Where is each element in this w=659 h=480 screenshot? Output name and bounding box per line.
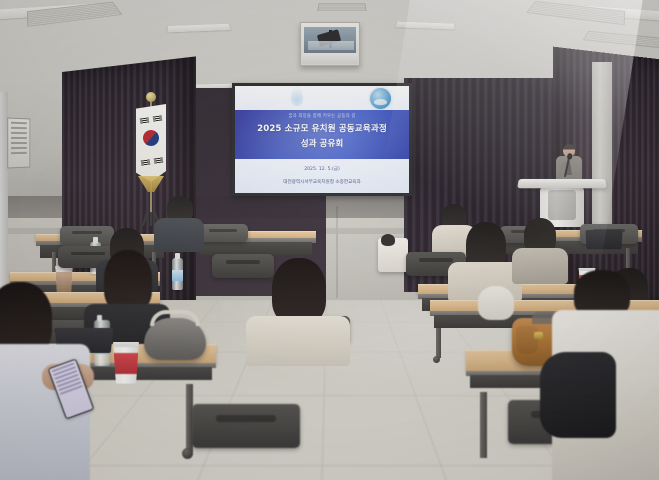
projector-reflection xyxy=(308,41,354,50)
taeguk-circle-icon xyxy=(141,128,161,148)
podium-shadow-panel xyxy=(548,190,576,220)
attendee-torso xyxy=(246,316,350,366)
attendee-mid-right xyxy=(470,286,528,362)
attendee-hair xyxy=(104,250,152,312)
water-drop-graphic xyxy=(291,86,303,106)
organization-logo-icon xyxy=(370,88,391,109)
slide-title-line-2: 성과 공유회 xyxy=(235,137,409,149)
attendee-row-2-b xyxy=(246,258,350,360)
water-bottle xyxy=(172,258,183,290)
seminar-room-photograph: 꿈과 희망을 함께 키우는 공동의 길 2025 소규모 유치원 공동교육과정 … xyxy=(0,0,659,480)
desk-leg xyxy=(480,392,487,458)
projection-screen: 꿈과 희망을 함께 키우는 공동의 길 2025 소규모 유치원 공동교육과정 … xyxy=(235,86,409,193)
attendee-hair xyxy=(478,286,514,320)
cup-sleeve xyxy=(112,353,140,374)
attendee-hair xyxy=(272,258,326,324)
tote-bag xyxy=(378,238,408,272)
attendee-row-3-c xyxy=(512,218,568,282)
flag-finial-icon xyxy=(146,92,156,102)
desk-caster xyxy=(182,448,193,459)
bottle-label xyxy=(172,270,183,281)
attendee-row-4-left xyxy=(154,196,204,248)
slide-title-line-1: 2025 소규모 유치원 공동교육과정 xyxy=(235,122,409,134)
laptop xyxy=(585,230,622,249)
handbag-gray xyxy=(144,318,206,360)
chair-back xyxy=(192,404,300,448)
attendee-foreground-right-arm xyxy=(540,352,616,438)
slide-footer-area xyxy=(235,159,409,193)
bag-clasp-icon xyxy=(534,332,543,339)
korean-flag-icon xyxy=(136,104,166,182)
bag-handle xyxy=(150,310,200,326)
projector-housing-base xyxy=(302,53,358,64)
coffee-cup xyxy=(112,342,140,384)
projection-screen-frame: 꿈과 희망을 함께 키우는 공동의 길 2025 소규모 유치원 공동교육과정 … xyxy=(232,83,412,196)
slide-date: 2025. 12. 5.(금) xyxy=(235,166,409,172)
chair-back xyxy=(198,224,248,242)
podium-desktop xyxy=(517,179,607,188)
flag-trigram xyxy=(153,115,163,121)
flag-trigram xyxy=(140,117,150,123)
flag-trigram xyxy=(154,157,164,163)
notice-board xyxy=(7,117,30,168)
flag-trigram xyxy=(141,159,151,165)
attendee-torso xyxy=(512,248,568,284)
projector-enclosure xyxy=(300,22,360,66)
projector-glass xyxy=(304,27,356,53)
slide-subtitle: 꿈과 희망을 함께 키우는 공동의 길 xyxy=(235,113,409,119)
slide-organization: 대전광역시서부교육지원청 소중한교육과 xyxy=(235,179,409,185)
bag-knot xyxy=(381,234,395,246)
attendee-torso xyxy=(154,218,204,252)
desk-caster xyxy=(433,356,440,363)
attendee-sleeve xyxy=(540,352,616,438)
